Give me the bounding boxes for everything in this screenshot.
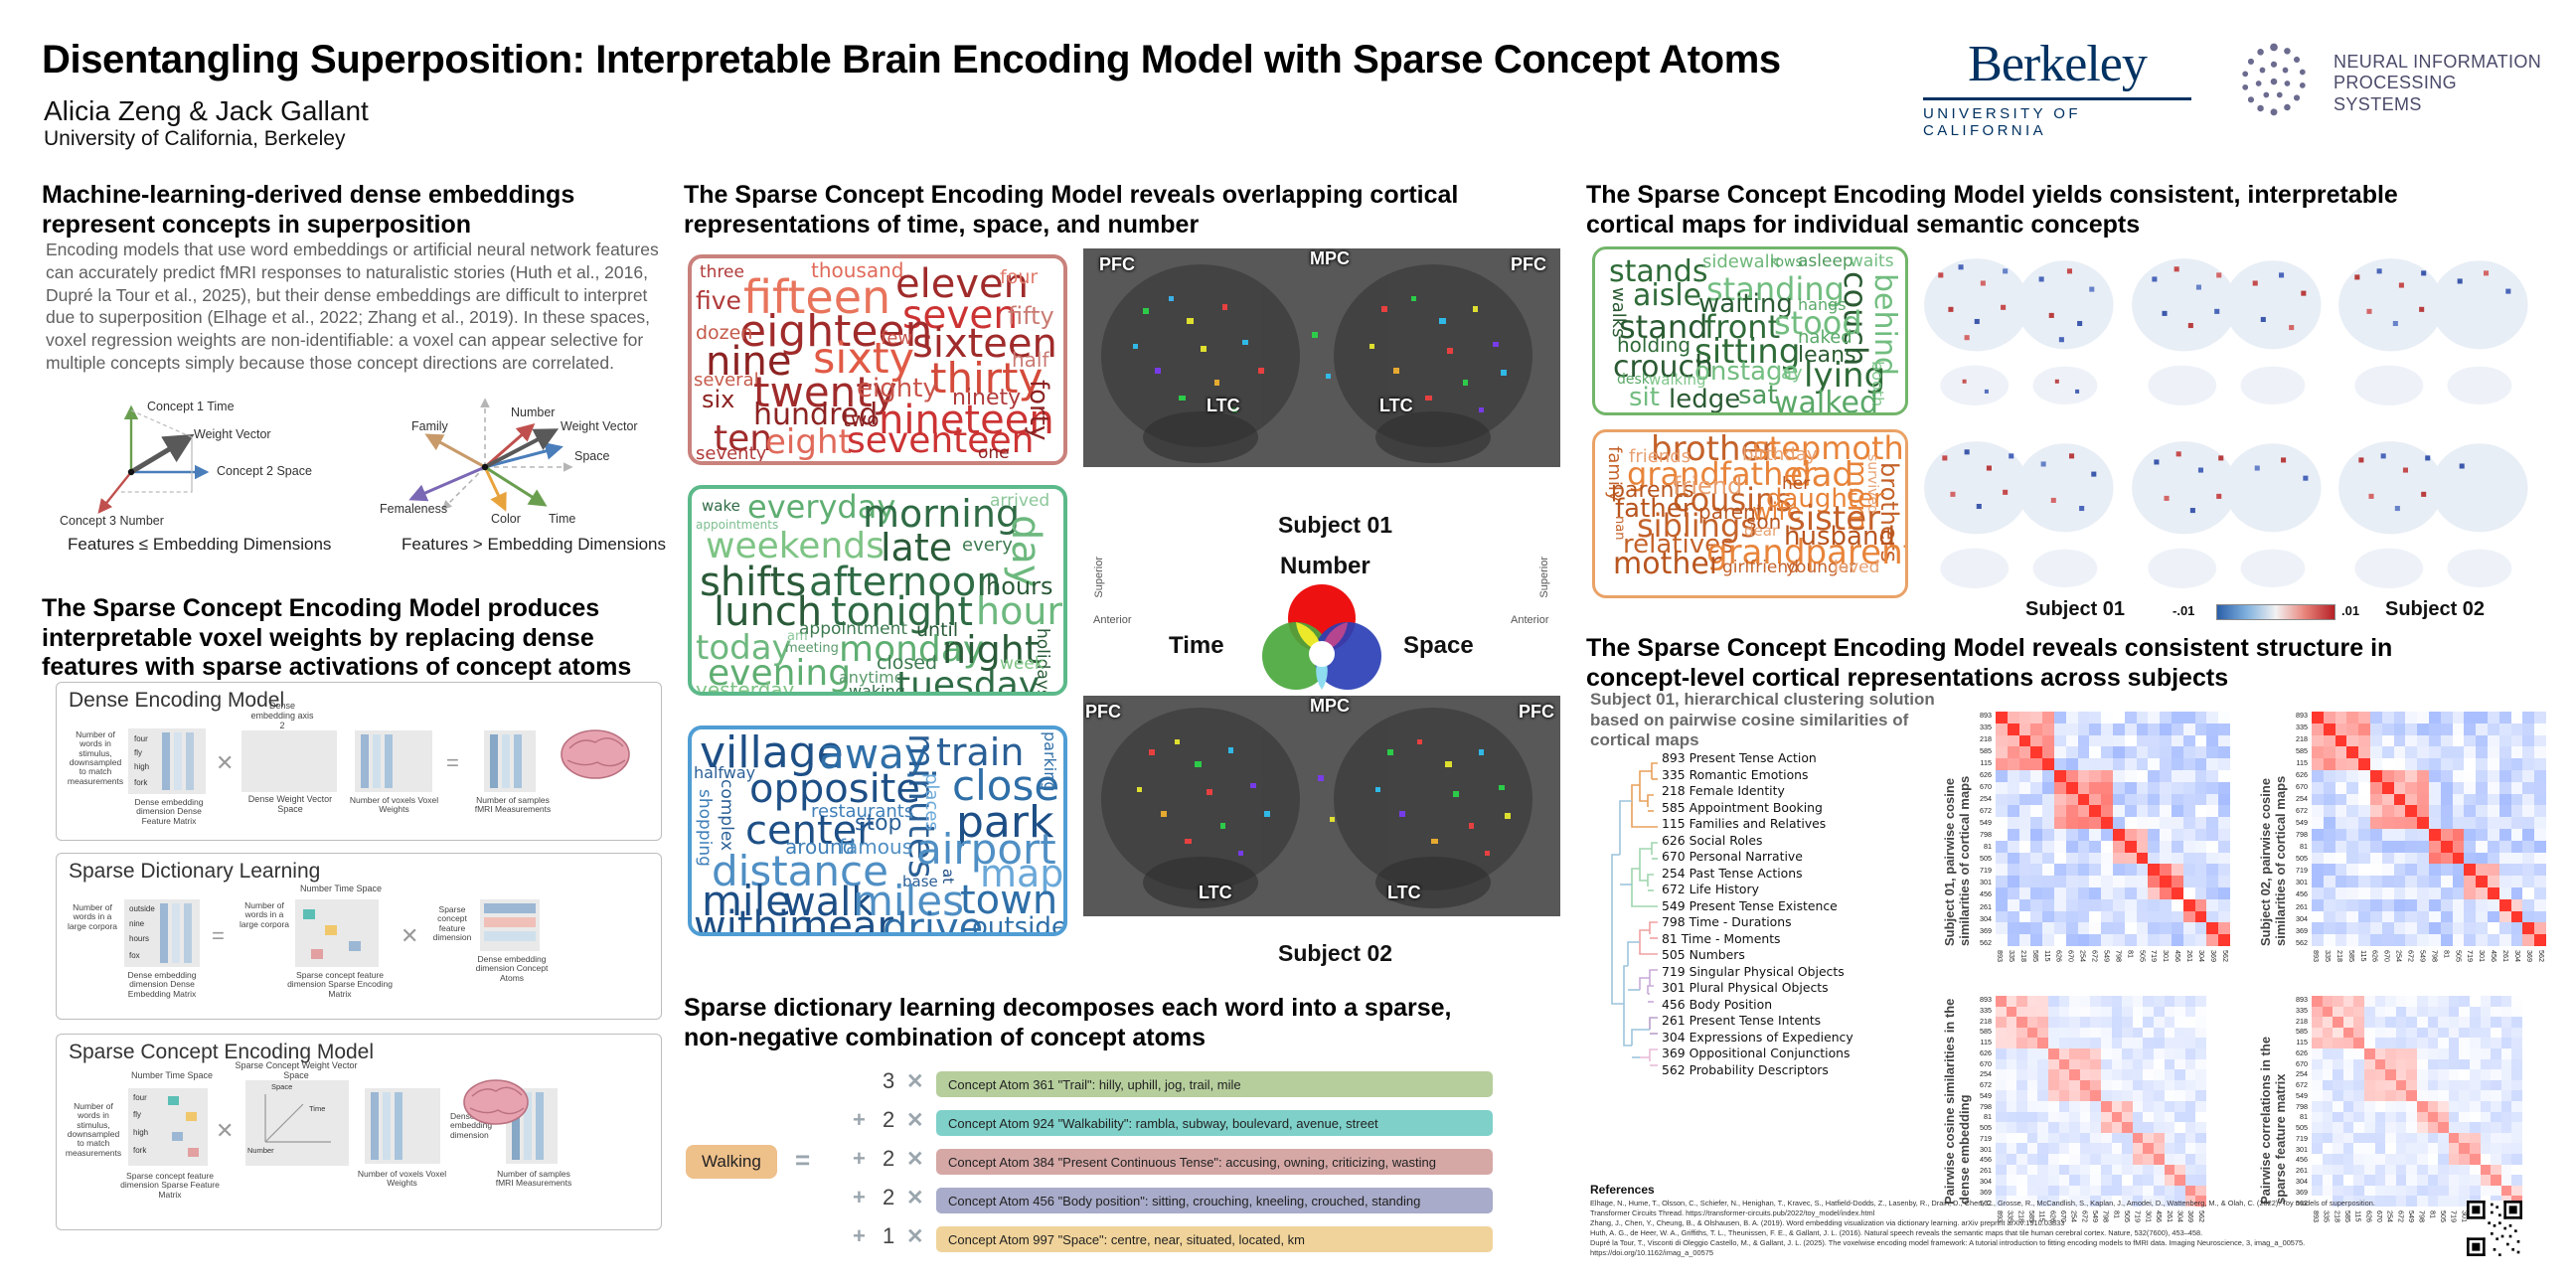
heatmap-cell (2195, 1069, 2206, 1080)
heatmap-cell (2007, 1186, 2017, 1197)
heatmap-cell (2059, 1165, 2070, 1176)
heatmap-cell (2042, 899, 2054, 911)
mult-operator-1: ✕ (216, 750, 234, 776)
heatmap-cell (2353, 1175, 2364, 1186)
heatmap-cell (2522, 817, 2534, 829)
heatmap-cell (2101, 724, 2113, 735)
heatmap-cell (2027, 1175, 2038, 1186)
heatmap-cell (1996, 1175, 2007, 1186)
heatmap-cell (2375, 1101, 2386, 1112)
heatmap-cell (2370, 876, 2382, 887)
heatmap-cell (2346, 853, 2358, 865)
heatmap-cell (2511, 829, 2523, 841)
heatmap-cell (2113, 794, 2125, 806)
heatmap-cell (2501, 1122, 2512, 1133)
heatmap-cell (2069, 1080, 2080, 1091)
concept-atom-bar[interactable]: Concept Atom 456 "Body position": sittin… (936, 1188, 1493, 1213)
sdl-word-fox: fox (129, 951, 140, 960)
heatmap-cell (2353, 1048, 2364, 1059)
heatmap-cell (2101, 922, 2113, 934)
heatmap-tick: 254 (1966, 1070, 1992, 1077)
heatmap-cell (1996, 1028, 2007, 1039)
heatmap-cell (2027, 1165, 2038, 1176)
heatmap-cell (2394, 911, 2406, 923)
heatmap-cell (2174, 1133, 2185, 1144)
concept-atom-bar[interactable]: Concept Atom 924 "Walkability": rambla, … (936, 1110, 1493, 1136)
heatmap-cell (2464, 794, 2476, 806)
heatmap-cell (2470, 1090, 2481, 1101)
heatmap-cell (2089, 899, 2101, 911)
heatmap-cell (2429, 887, 2441, 899)
heatmap-cell (2481, 1069, 2492, 1080)
heatmap-cell (2324, 782, 2335, 794)
scem-word-fork: fork (133, 1146, 146, 1155)
sdl-m2-rowlabel: Number of words in a large corpora (238, 901, 291, 929)
heatmap-cell (2066, 841, 2078, 853)
wordcloud-word: waking (849, 684, 905, 696)
heatmap-cell (2101, 1101, 2112, 1112)
heatmap-cell (2324, 817, 2335, 829)
heatmap-cell (2027, 1059, 2038, 1070)
heatmap-cell (2464, 782, 2476, 794)
heatmap-cell (2323, 1017, 2334, 1028)
heatmap-cell (2438, 1112, 2449, 1123)
heatmap-cell (2007, 1080, 2017, 1091)
heatmap-cell (1996, 1090, 2007, 1101)
heatmap-cell (2183, 934, 2195, 946)
heatmap-cell (2137, 899, 2149, 911)
heatmap-cell (2453, 864, 2465, 876)
heatmap-cell (2090, 996, 2101, 1007)
heatmap-cell (2438, 1175, 2449, 1186)
heatmap-tick: 301 (1966, 1146, 1992, 1153)
heatmap-cell (2417, 735, 2429, 747)
heatmap-cell (2042, 887, 2054, 899)
heatmap-cell (2037, 1165, 2048, 1176)
heatmap-cell (2364, 1028, 2375, 1039)
heatmap-cell (2335, 853, 2347, 865)
heatmap-cell (2438, 996, 2449, 1007)
heatmap-cell (2406, 1196, 2417, 1207)
heatmap-cell (2417, 876, 2429, 887)
heatmap-cell (2534, 876, 2546, 887)
heatmap-cell (2080, 1112, 2091, 1123)
heatmap-cell (2078, 853, 2090, 865)
heatmap-cell (2417, 1007, 2428, 1018)
heatmap-cell (2333, 1133, 2343, 1144)
heatmap-cell (2324, 712, 2335, 724)
heatmap-cell (2185, 1175, 2196, 1186)
heatmap-cell (2137, 853, 2149, 865)
heatmap-cell (2066, 899, 2078, 911)
heatmap-cell (2066, 829, 2078, 841)
heatmap-cell (2059, 1112, 2070, 1123)
heatmap-cell (2449, 1090, 2460, 1101)
heatmap-cell (2511, 996, 2522, 1007)
heatmap-cell (2394, 853, 2406, 865)
heatmap-cell (2185, 1069, 2196, 1080)
heatmap-cell (2016, 1017, 2027, 1028)
heatmap-cell (2165, 1175, 2175, 1186)
heatmap-cell (2312, 1122, 2323, 1133)
heatmap-cell (2382, 829, 2394, 841)
heatmap-cell (2090, 1048, 2101, 1059)
heatmap-cell (2429, 746, 2441, 758)
heatmap-cell (2048, 1143, 2059, 1154)
axis-superior-right: Superior (1538, 557, 1550, 598)
concept-atom-bar[interactable]: Concept Atom 997 "Space": centre, near, … (936, 1226, 1493, 1252)
heatmap-cell (2137, 911, 2149, 923)
heatmap-cell (2464, 876, 2476, 887)
heatmap-cell (2370, 853, 2382, 865)
heatmap-cell (2054, 746, 2066, 758)
heatmap-cell (2137, 864, 2149, 876)
heatmap-cell (2511, 1122, 2522, 1133)
heatmap-cell (2037, 1059, 2048, 1070)
heatmap-cell (2133, 996, 2144, 1007)
heatmap-cell (2353, 996, 2364, 1007)
heatmap-cell (2394, 899, 2406, 911)
label-family: Family (411, 419, 448, 433)
heatmap-tick: 218 (2335, 950, 2344, 962)
heatmap-cell (2172, 911, 2183, 923)
heatmap-cell (2459, 1112, 2470, 1123)
brain-label-pfc-right-s02: PFC (1519, 702, 1554, 723)
heatmap-cell (2476, 746, 2488, 758)
heatmap-cell (2375, 1059, 2386, 1070)
heatmap-cell (2353, 1007, 2364, 1018)
heatmap-cell (2143, 1090, 2154, 1101)
heatmap-cell (2066, 922, 2078, 934)
heatmap-cell (2453, 876, 2465, 887)
heatmap-cell (2396, 1048, 2407, 1059)
dendrogram-leaf: 254 Past Tense Actions (1662, 866, 1803, 881)
heatmap-cell (2481, 1133, 2492, 1144)
heatmap-cell (1996, 724, 2008, 735)
heatmap-cell (2476, 934, 2488, 946)
heatmap-cell (2195, 1007, 2206, 1018)
heatmap-cell (2438, 1038, 2449, 1048)
heatmap-cell (2206, 887, 2218, 899)
heatmap-cell (2048, 1090, 2059, 1101)
heatmap-cell (2069, 1028, 2080, 1039)
heatmap-cell (2522, 922, 2534, 934)
heatmap-cell (2364, 1059, 2375, 1070)
heatmap-cell (2008, 735, 2019, 747)
heatmap-cell (2007, 1175, 2017, 1186)
heatmap-cell (2406, 1048, 2417, 1059)
heatmap-cell (2113, 876, 2125, 887)
affiliation: University of California, Berkeley (44, 127, 345, 151)
heatmap-cell (2353, 1112, 2364, 1123)
heatmap-cell (2488, 758, 2499, 770)
heatmap-cell (2206, 735, 2218, 747)
heatmap-cell (2042, 782, 2054, 794)
heatmap-cell (2206, 922, 2218, 934)
heatmap-cell (2030, 724, 2042, 735)
heatmap-cell (2382, 746, 2394, 758)
heatmap-cell (2343, 1007, 2354, 1018)
heatmap-cell (2090, 1028, 2101, 1039)
heatmap-cell (2459, 1069, 2470, 1080)
heatmap-tick: 254 (2282, 1070, 2308, 1077)
heatmap-cell (2042, 829, 2054, 841)
heatmap-cell (2364, 1186, 2375, 1197)
heatmap-cell (2148, 712, 2160, 724)
heatmap-cell (2405, 724, 2417, 735)
heatmap-cell (2312, 1048, 2323, 1059)
heatmap-cell (2172, 876, 2183, 887)
heatmap-cell (2143, 1007, 2154, 1018)
label-femaleness: Femaleness (380, 502, 447, 516)
heatmap-cell (2185, 1133, 2196, 1144)
heatmap-cell (2429, 758, 2441, 770)
heatmap-cell (2101, 864, 2113, 876)
heatmap-tick: 549 (2282, 819, 2308, 826)
heatmap-cell (2453, 746, 2465, 758)
heatmap-cell (2333, 1101, 2343, 1112)
heatmap-cell (2054, 864, 2066, 876)
heatmap-cell (2441, 770, 2453, 782)
heatmap-cell (2459, 1038, 2470, 1048)
heatmap-tick: 301 (2478, 950, 2487, 962)
heatmap-cell (2080, 1154, 2091, 1165)
heatmap-cell (2405, 817, 2417, 829)
heatmap-cell (2382, 887, 2394, 899)
heatmap-cell (2195, 1090, 2206, 1101)
heatmap-cell (2464, 805, 2476, 817)
heatmap-cell (2195, 1112, 2206, 1123)
heatmap-cell (1996, 876, 2008, 887)
heatmap-tick: 301 (2282, 1146, 2308, 1153)
heatmap-cell (2101, 1186, 2112, 1197)
heatmap-cell (2511, 1090, 2522, 1101)
heatmap-cell (2428, 1154, 2439, 1165)
heatmap-cell (2406, 1122, 2417, 1133)
heatmap-cell (2195, 1133, 2206, 1144)
heatmap-cell (2312, 1165, 2323, 1176)
heatmap-tick: 505 (1966, 1124, 1992, 1131)
heatmap-cell (2195, 735, 2207, 747)
heatmap-cell (1996, 887, 2008, 899)
heatmap-cell (2428, 1112, 2439, 1123)
heatmap-tick: 254 (2282, 795, 2308, 802)
heatmap-cell (1996, 805, 2008, 817)
heatmap-cell (2501, 1112, 2512, 1123)
heatmap-cell (2172, 829, 2183, 841)
heatmap-cell (2312, 841, 2324, 853)
heatmap-cell (2476, 758, 2488, 770)
heatmap-cell (2453, 724, 2465, 735)
heatmap-cell (2343, 1059, 2354, 1070)
heatmap-cell (2417, 1101, 2428, 1112)
heatmap-cell (2323, 1038, 2334, 1048)
heatmap-cell (2019, 746, 2031, 758)
heatmap-tick: 626 (2282, 1049, 2308, 1056)
heatmap-cell (2346, 712, 2358, 724)
heatmap-cell (2346, 805, 2358, 817)
heatmap-cell (2048, 1165, 2059, 1176)
heatmap-cell (2016, 1165, 2027, 1176)
heatmap-cell (2405, 899, 2417, 911)
heatmap-cell (2078, 770, 2090, 782)
neurips-mark-icon (2226, 36, 2322, 131)
heatmap-cell (2090, 1122, 2101, 1133)
wordcloud-number: threethousandelevenfourfivefifteensevenf… (688, 254, 1067, 465)
heatmap-cell (2385, 1069, 2396, 1080)
heatmap-cell (2165, 1122, 2175, 1133)
heatmap-cell (2358, 864, 2370, 876)
heatmap-cell (2066, 712, 2078, 724)
brain-label-pfc-right-s01: PFC (1511, 254, 1546, 275)
heatmap-cell (2499, 758, 2511, 770)
heatmap-cell (2030, 934, 2042, 946)
heatmap-cell (2335, 922, 2347, 934)
heatmap-cell (2429, 782, 2441, 794)
heatmap-cell (2335, 794, 2347, 806)
heatmap-cell (2218, 746, 2230, 758)
dendrogram-leaf: 585 Appointment Booking (1662, 800, 1823, 815)
heatmap-cell (2160, 922, 2172, 934)
heatmap-cell (2438, 1143, 2449, 1154)
heatmap-cell (2396, 1122, 2407, 1133)
heatmap-cell (2137, 712, 2149, 724)
equals-operator-1: = (446, 750, 459, 776)
heatmap-cell (2417, 724, 2429, 735)
heatmap-cell (2069, 1122, 2080, 1133)
heatmap-cell (2324, 746, 2335, 758)
decomposition-word: Walking (686, 1145, 777, 1179)
heatmap-cell (2488, 934, 2499, 946)
heatmap-cell (2459, 1028, 2470, 1039)
label-weight-vector-b: Weight Vector (561, 419, 638, 433)
heatmap-cell (2080, 996, 2091, 1007)
heatmap-cell (2364, 1007, 2375, 1018)
heatmap-tick: 672 (2282, 1081, 2308, 1088)
heatmap-cell (2165, 1028, 2175, 1039)
heatmap-tick: 301 (1966, 879, 1992, 885)
heatmap-cell (2499, 922, 2511, 934)
heatmap-cell (2090, 1101, 2101, 1112)
heatmap-cell (2078, 782, 2090, 794)
right-heading-2: The Sparse Concept Encoding Model reveal… (1586, 634, 2481, 693)
heatmap-cell (2016, 996, 2027, 1007)
heatmap-cell (2491, 1048, 2501, 1059)
heatmap-tick: 893 (1966, 996, 1992, 1003)
heatmap-tick: 81 (2442, 950, 2451, 962)
heatmap-cell (2027, 1101, 2038, 1112)
heatmap-cell (2481, 1080, 2492, 1091)
dense-m1-collabel: Dense embedding dimension Dense Feature … (124, 798, 214, 826)
heatmap-cell (2037, 1122, 2048, 1133)
heatmap-cell (2405, 911, 2417, 923)
heatmap-cell (2059, 1028, 2070, 1039)
heatmap-cell (2358, 735, 2370, 747)
heatmap-cell (2470, 1143, 2481, 1154)
heatmap-cell (2090, 1175, 2101, 1186)
heatmap-cell (2499, 887, 2511, 899)
heatmap-cell (2122, 1122, 2133, 1133)
heatmap-tick: 335 (2282, 724, 2308, 730)
heatmap-cell (2154, 1165, 2165, 1176)
heatmap-cell (2501, 1017, 2512, 1028)
heatmap-cell (2522, 829, 2534, 841)
heatmap-cell (2364, 1165, 2375, 1176)
heatmap-cell (2324, 934, 2335, 946)
heatmap-cell (2048, 1101, 2059, 1112)
heatmap-cell (2470, 1028, 2481, 1039)
heatmap-cell (2113, 735, 2125, 747)
heatmap-tick: 719 (2150, 950, 2159, 962)
heatmap-cell (2160, 864, 2172, 876)
heatmap-cell (2323, 1186, 2334, 1197)
heatmap-cell (2218, 922, 2230, 934)
word-high: high (134, 762, 149, 771)
heatmap-cell (2174, 1017, 2185, 1028)
flatmap-svg-s02 (1083, 696, 1560, 916)
heatmap-tick: 115 (2282, 759, 2308, 766)
heatmap-cell (2375, 1122, 2386, 1133)
qr-code[interactable] (2467, 1201, 2522, 1256)
dendrogram-leaf: 562 Probability Descriptors (1662, 1062, 1829, 1077)
heatmap-cell (2037, 1133, 2048, 1144)
wordcloud-word: near (803, 906, 893, 936)
heatmap-tick: 549 (2418, 950, 2427, 962)
heatmap-cell (2069, 1038, 2080, 1048)
heatmap-cell (2335, 876, 2347, 887)
heatmap-cell (2172, 782, 2183, 794)
heatmap-cell (2008, 794, 2019, 806)
cortical-map-body-3 (2333, 246, 2534, 417)
heatmap-cell (2405, 794, 2417, 806)
heatmap-cell (2037, 1080, 2048, 1091)
dendrogram-leaf: 719 Singular Physical Objects (1662, 964, 1845, 979)
heatmap-cell (2470, 1154, 2481, 1165)
references-body: Elhage, N., Hume, T., Olsson, C., Schief… (1590, 1199, 2405, 1258)
wordcloud-space: villageawayminutestrainparkinghalfwayopp… (688, 725, 1067, 936)
heatmap-cell (2428, 1133, 2439, 1144)
neurips-line-1: NEURAL INFORMATION (2334, 52, 2544, 74)
heatmap-cell (2183, 853, 2195, 865)
concept-atom-bar[interactable]: Concept Atom 361 "Trail": hilly, uphill,… (936, 1071, 1493, 1097)
heatmap-cell (2312, 758, 2324, 770)
heatmap-cell (2148, 922, 2160, 934)
heatmap-tick: 893 (2282, 712, 2308, 719)
heatmap-cell (2312, 1175, 2323, 1186)
heatmap-cell (2066, 934, 2078, 946)
heatmap-cell (2335, 746, 2347, 758)
heatmap-cell (2066, 911, 2078, 923)
heatmap-cell (2195, 1028, 2206, 1039)
heatmap-cell (2148, 899, 2160, 911)
heatmap-cell (2449, 1133, 2460, 1144)
venn-label-time: Time (1169, 632, 1224, 660)
heatmap-cell (2417, 887, 2429, 899)
concept-atom-bar[interactable]: Concept Atom 384 "Present Continuous Ten… (936, 1149, 1493, 1175)
heatmap-cell (2312, 922, 2324, 934)
heatmap-cell (2346, 770, 2358, 782)
heatmap-cell (2364, 1038, 2375, 1048)
heatmap-cell (2125, 922, 2137, 934)
heatmap-cell (2101, 829, 2113, 841)
heatmap-cell (2066, 746, 2078, 758)
heatmap-cell (2453, 758, 2465, 770)
heatmap-cell (2534, 724, 2546, 735)
heatmap-cell (2396, 1090, 2407, 1101)
heatmap-cell (2312, 899, 2324, 911)
heatmap-subject01-cosine (1996, 712, 2230, 946)
heatmap-cell (2491, 996, 2501, 1007)
